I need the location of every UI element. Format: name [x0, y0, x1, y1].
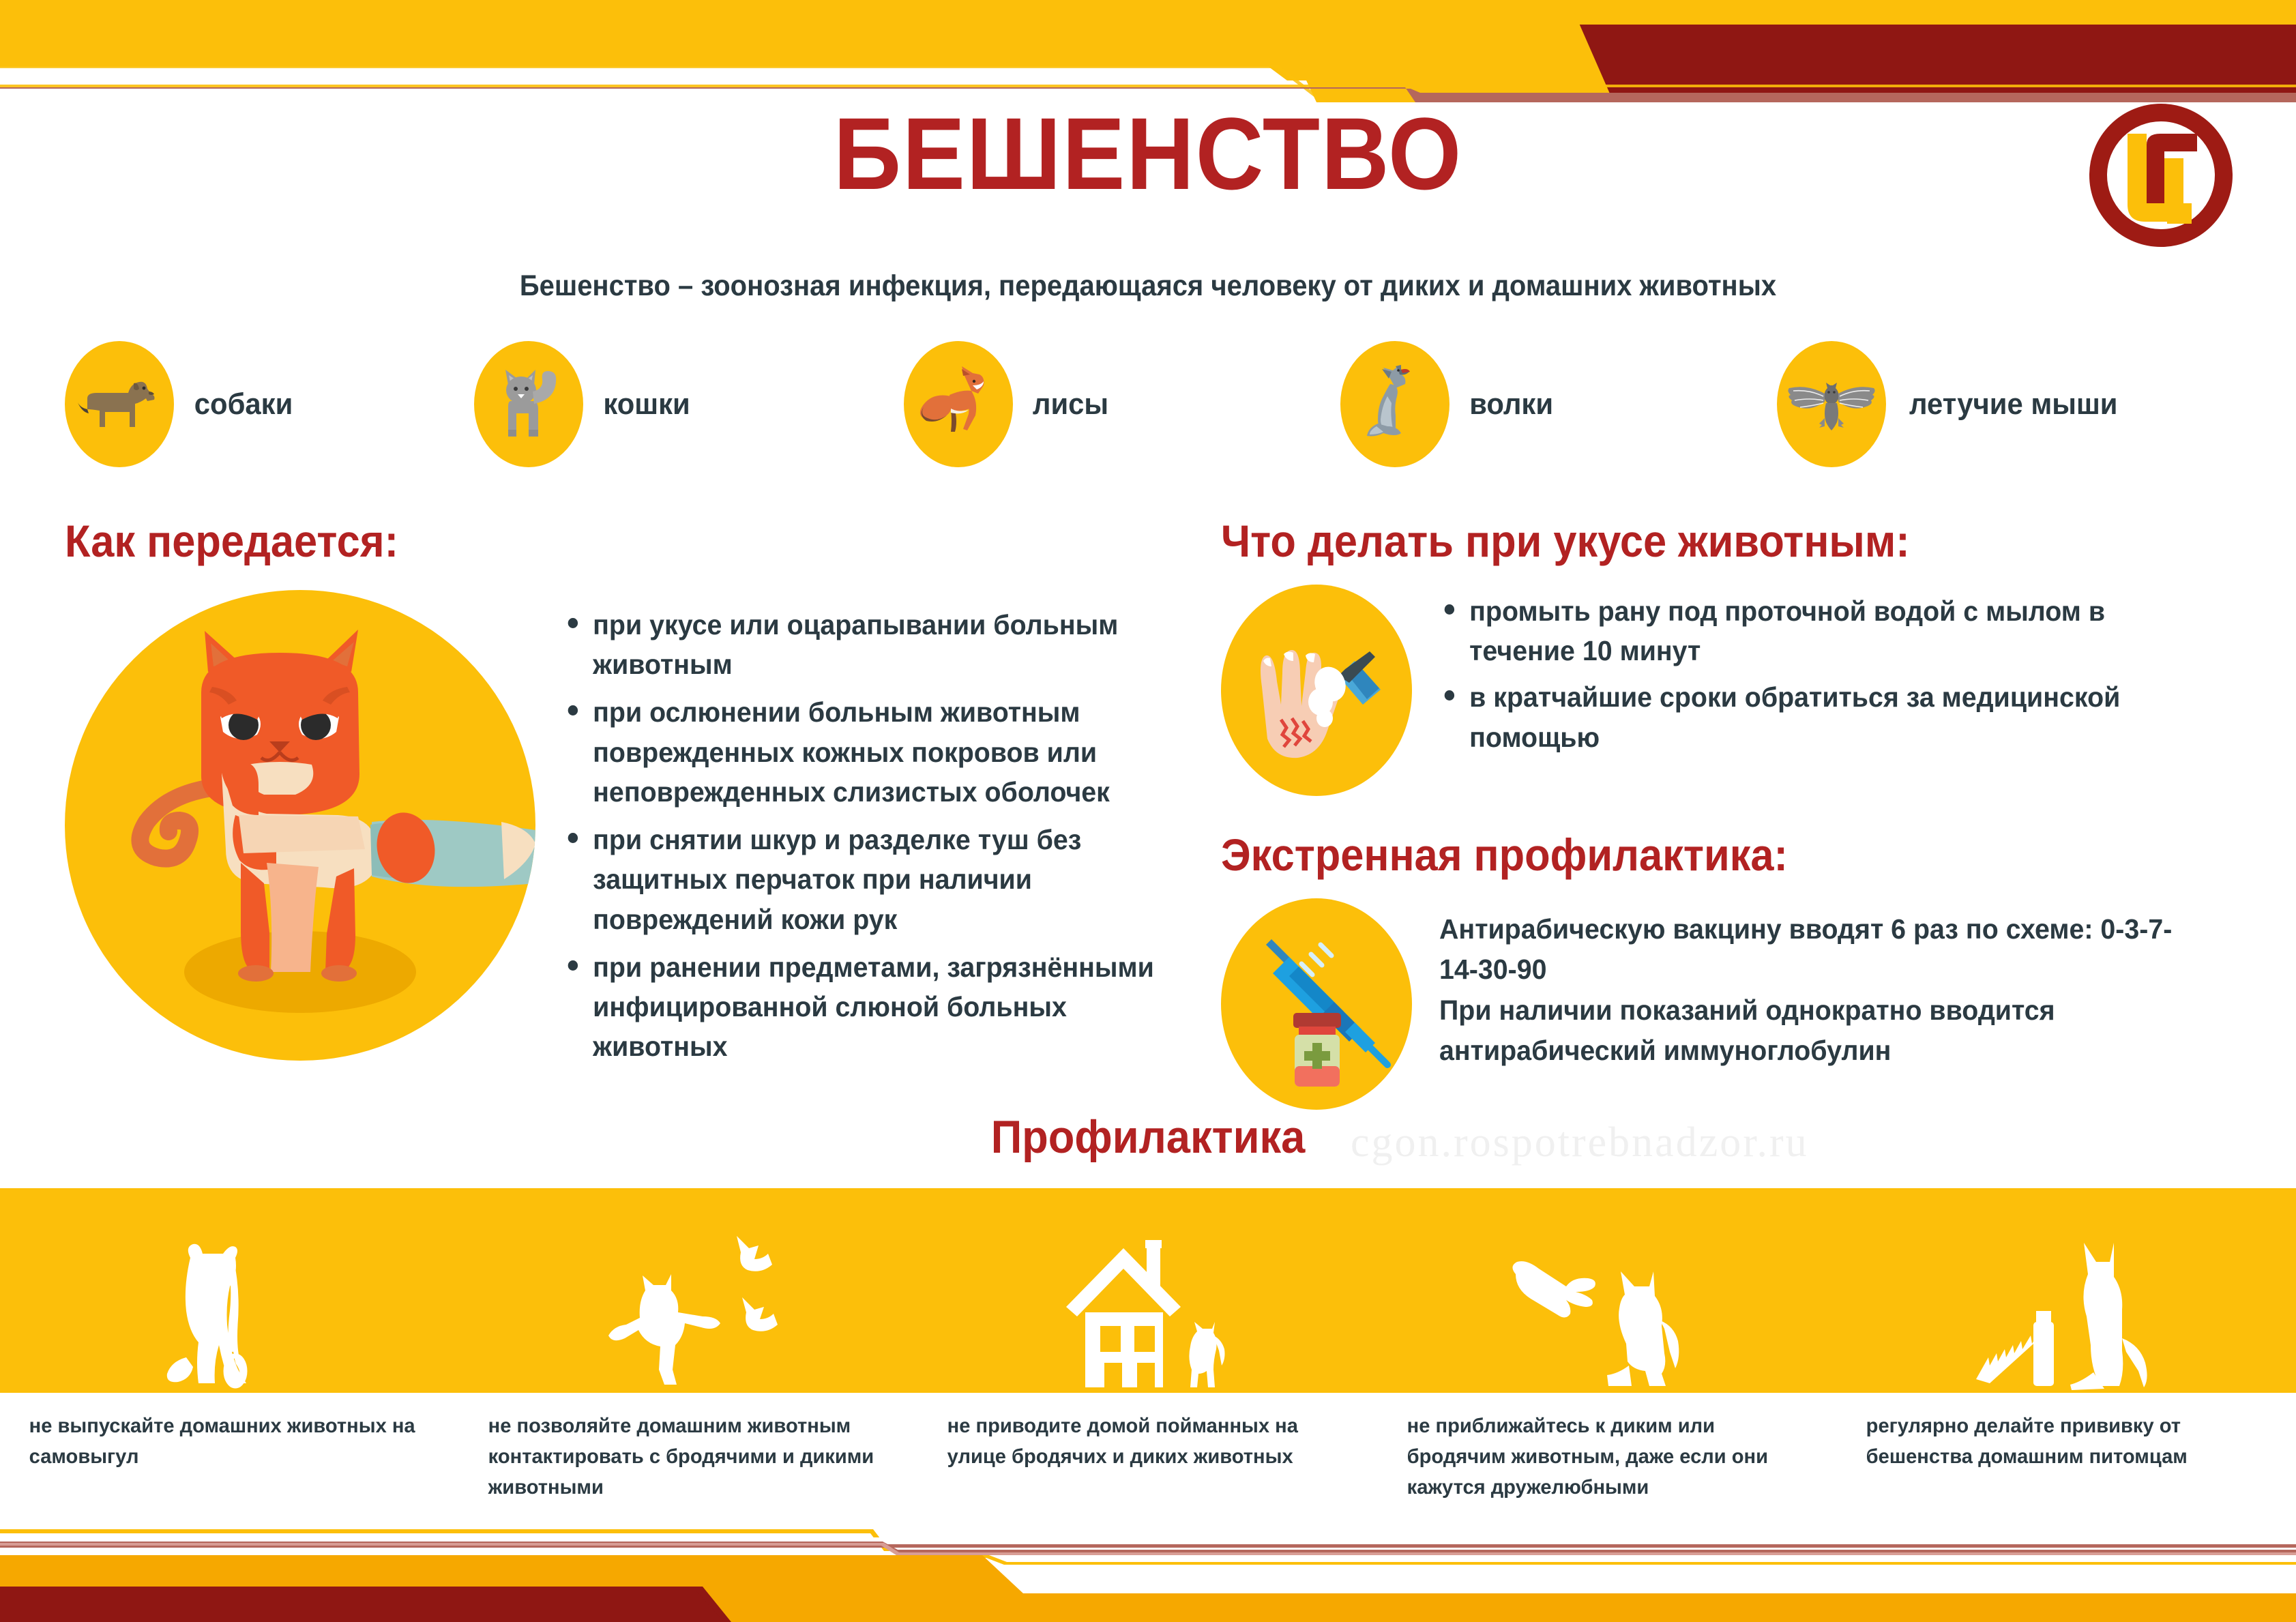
emergency-body: Антирабическую вакцину вводят 6 раз по с…	[1221, 898, 2237, 1110]
list-item: при снятии шкур и разделке туш без защит…	[563, 820, 1172, 939]
list-item: при ранении предметами, загрязнёнными ин…	[563, 947, 1172, 1067]
bite-action-body: промыть рану под проточной водой с мылом…	[1221, 585, 2237, 796]
fox-badge	[904, 341, 1013, 467]
animal-label-cat: кошки	[603, 387, 690, 422]
syringe-with-cat-icon	[1913, 1215, 2220, 1393]
animal-item-wolf: волки	[1340, 341, 1777, 467]
animal-item-fox: лисы	[904, 341, 1340, 467]
cat-chasing-bats-icon	[535, 1215, 842, 1393]
wolf-icon	[1357, 361, 1432, 448]
cat-badge	[474, 341, 583, 467]
animal-item-cat: кошки	[474, 341, 904, 467]
bite-action-list: промыть рану под проточной водой с мылом…	[1439, 591, 2237, 796]
emergency-section: Экстренная профилактика:	[1221, 829, 2237, 1110]
dog-with-leash-icon	[76, 1215, 383, 1393]
animal-item-dog: собаки	[65, 341, 474, 467]
list-item: в кратчайшие сроки обратиться за медицин…	[1439, 677, 2205, 756]
transmission-list: при укусе или оцарапывании больным живот…	[563, 605, 1197, 1074]
animal-label-bat: летучие мыши	[1909, 387, 2117, 422]
prophylaxis-icon-band	[0, 1188, 2296, 1393]
wolf-badge	[1340, 341, 1449, 467]
prophylaxis-caption-2: не позволяйте домашним животным контакти…	[459, 1411, 904, 1503]
emergency-text-line1: Антирабическую вакцину вводят 6 раз по с…	[1439, 909, 2205, 990]
emergency-heading: Экстренная профилактика:	[1221, 829, 2166, 881]
list-item: при укусе или оцарапывании больным живот…	[563, 605, 1172, 684]
cat-icon	[488, 362, 570, 447]
house-with-dog-icon	[995, 1215, 1301, 1393]
prophylaxis-caption-3: не приводите домой пойманных на улице бр…	[918, 1411, 1364, 1503]
emergency-text-line2: При наличии показаний однократно вводитс…	[1439, 990, 2205, 1072]
dog-badge	[65, 341, 174, 467]
bite-action-heading: Что делать при укусе животным:	[1221, 515, 2166, 567]
page-title-wrapper: БЕШЕНСТВО	[0, 102, 2296, 205]
angry-cat-biting-hand-icon	[65, 590, 535, 1061]
list-item: при ослюнении больным животным поврежден…	[563, 692, 1172, 812]
animal-item-bat: летучие мыши	[1777, 341, 2123, 467]
animal-label-fox: лисы	[1033, 387, 1108, 422]
prophylaxis-heading: Профилактика	[80, 1110, 2216, 1164]
dog-icon	[75, 367, 164, 442]
cgon-logo	[2088, 102, 2235, 249]
transmission-heading: Как передается:	[65, 515, 1118, 567]
prophylaxis-caption-1: не выпускайте домашних животных на самов…	[0, 1411, 445, 1503]
prophylaxis-captions: не выпускайте домашних животных на самов…	[0, 1411, 2296, 1503]
animal-label-wolf: волки	[1469, 387, 1553, 422]
top-decorative-banner	[0, 0, 2296, 102]
transmission-body: при укусе или оцарапывании больным живот…	[65, 590, 1197, 1074]
transmission-section: Как передается:	[65, 515, 1197, 1074]
animal-label-dog: собаки	[194, 387, 293, 422]
list-item: промыть рану под проточной водой с мылом…	[1439, 591, 2205, 670]
animal-sources-strip: собаки кошки	[65, 341, 2248, 467]
fox-icon	[914, 365, 1003, 443]
page-title: БЕШЕНСТВО	[92, 102, 2205, 205]
hand-reaching-cat-icon	[1454, 1215, 1761, 1393]
emergency-text: Антирабическую вакцину вводят 6 раз по с…	[1439, 909, 2205, 1110]
prophylaxis-caption-4: не приближайтесь к диким или бродячим жи…	[1378, 1411, 1823, 1503]
prophylaxis-caption-5: регулярно делайте прививку от бешенства …	[1837, 1411, 2282, 1503]
wounded-hand-washing-icon	[1221, 585, 1412, 796]
bat-badge	[1777, 341, 1886, 467]
bottom-decorative-banner	[0, 1520, 2296, 1622]
bat-icon	[1784, 372, 1879, 437]
page-subtitle: Бешенство – зоонозная инфекция, передающ…	[80, 269, 2216, 303]
right-column: Что делать при укусе животным: промы	[1221, 515, 2237, 1110]
syringe-vaccine-vial-icon	[1221, 898, 1412, 1110]
